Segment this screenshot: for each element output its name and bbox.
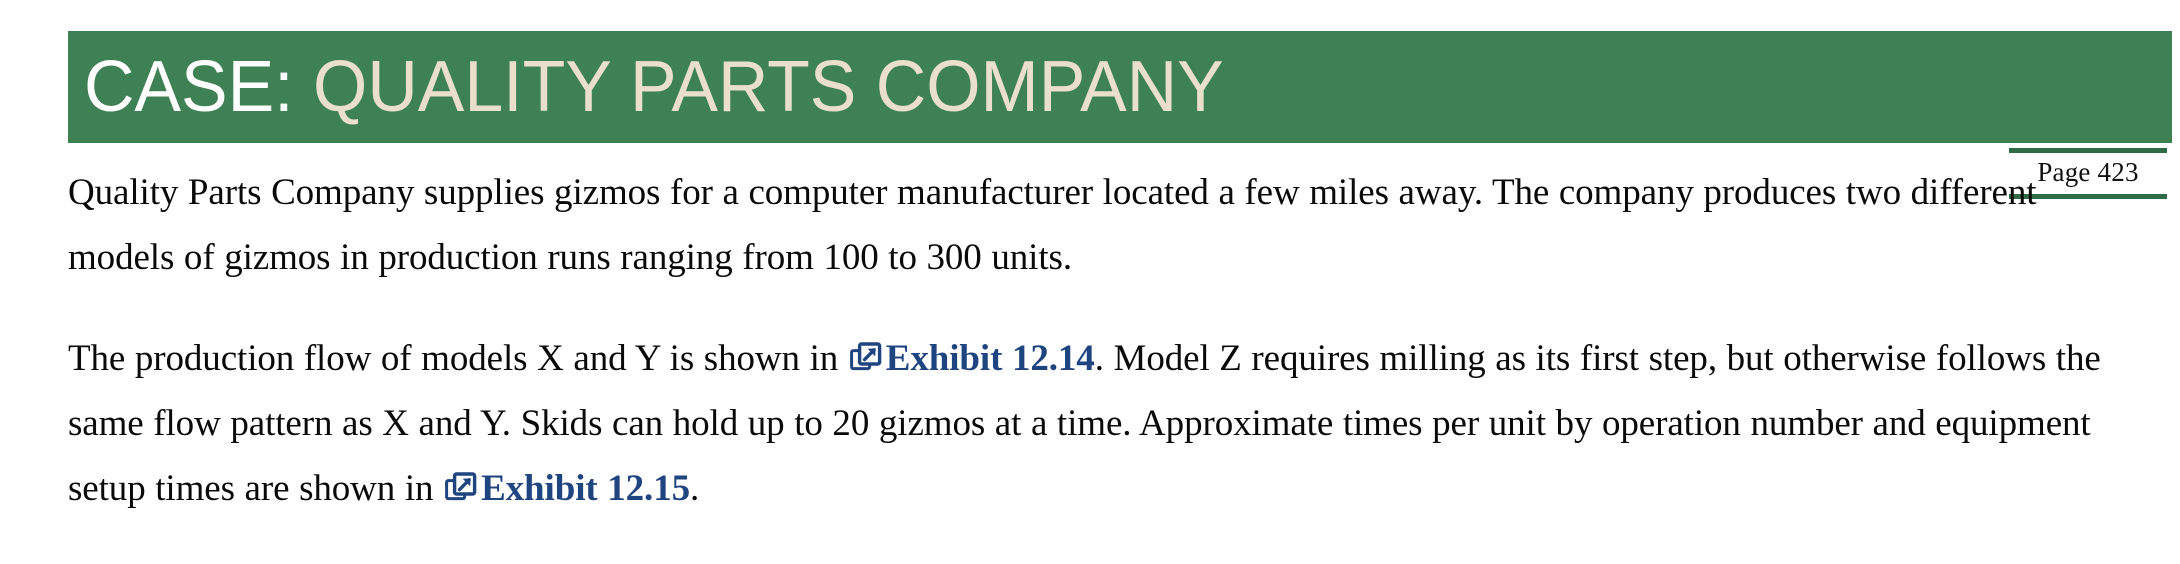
paragraph-intro: Quality Parts Company supplies gizmos fo… <box>68 160 2148 290</box>
exhibit-12-14-label: Exhibit 12.14 <box>886 338 1095 379</box>
paragraph-flow-text-part1: The production flow of models X and Y is… <box>68 338 848 379</box>
case-title-name: QUALITY PARTS COMPANY <box>294 47 1224 127</box>
case-title-prefix: CASE: <box>84 47 294 127</box>
paragraph-flow-text-part3: . <box>690 468 699 509</box>
external-link-icon <box>445 472 477 504</box>
paragraph-production-flow: The production flow of models X and Y is… <box>68 326 2148 521</box>
case-banner: CASE: QUALITY PARTS COMPANY <box>68 31 2172 143</box>
paragraph-intro-text: Quality Parts Company supplies gizmos fo… <box>68 172 2036 278</box>
exhibit-12-15-link[interactable]: Exhibit 12.15 <box>443 468 690 509</box>
external-link-icon <box>850 342 882 374</box>
case-body: Quality Parts Company supplies gizmos fo… <box>68 160 2148 521</box>
exhibit-12-14-link[interactable]: Exhibit 12.14 <box>848 338 1095 379</box>
exhibit-12-15-label: Exhibit 12.15 <box>481 468 690 509</box>
case-title: CASE: QUALITY PARTS COMPANY <box>84 51 1224 123</box>
